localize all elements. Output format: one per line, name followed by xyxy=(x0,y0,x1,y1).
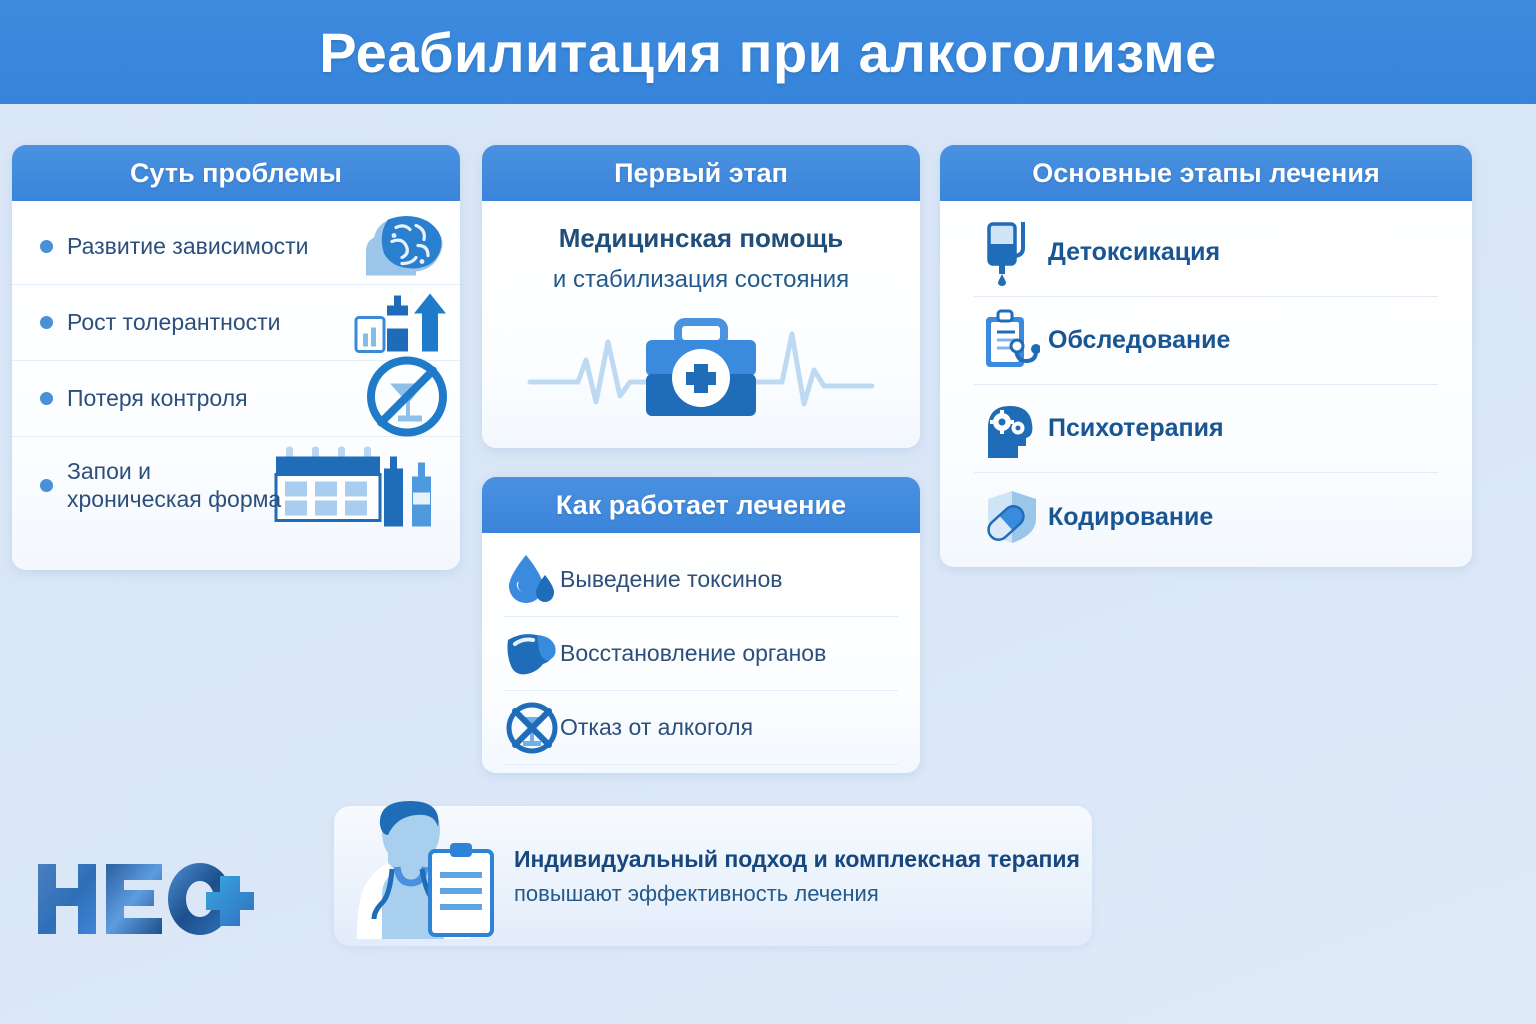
list-item[interactable]: Выведение токсинов xyxy=(504,543,898,617)
card-treatment-stages-header: Основные этапы лечения xyxy=(940,145,1472,201)
list-item[interactable]: Запои ихроническая форма xyxy=(12,437,460,533)
bottle-growth-arrow-icon xyxy=(354,285,450,360)
list-item-label: Рост толерантности xyxy=(67,308,281,336)
footer-text: Индивидуальный подход и комплексная тера… xyxy=(514,846,1080,907)
list-item-label: Восстановление органов xyxy=(560,640,826,667)
footer-line2: повышают эффективность лечения xyxy=(514,881,1080,907)
footer-banner: Индивидуальный подход и комплексная тера… xyxy=(334,806,1092,946)
list-item[interactable]: Рост толерантности xyxy=(12,285,460,361)
bullet-icon xyxy=(40,240,53,253)
card-how-it-works-header: Как работает лечение xyxy=(482,477,920,533)
first-stage-line2: и стабилизация состояния xyxy=(553,266,849,294)
card-treatment-stages: Основные этапы лечения Детоксикация xyxy=(940,145,1472,567)
card-first-stage-body: Медицинская помощь и стабилизация состоя… xyxy=(482,201,920,448)
card-problem-header: Суть проблемы xyxy=(12,145,460,201)
list-item[interactable]: Развитие зависимости xyxy=(12,209,460,285)
card-problem-title: Суть проблемы xyxy=(130,158,342,189)
list-item[interactable]: Восстановление органов xyxy=(504,617,898,691)
list-item-label: Отказ от алкоголя xyxy=(560,714,753,741)
calendar-bottles-icon xyxy=(274,437,450,534)
card-first-stage-title: Первый этап xyxy=(614,158,788,189)
first-aid-kit-heartbeat-icon xyxy=(526,308,876,429)
page-title: Реабилитация при алкоголизме xyxy=(319,20,1217,85)
first-stage-line1: Медицинская помощь xyxy=(559,223,844,254)
footer-line1: Индивидуальный подход и комплексная тера… xyxy=(514,846,1080,873)
doctor-clipboard-icon xyxy=(352,791,522,946)
pill-shield-icon xyxy=(974,487,1048,547)
card-how-it-works-body: Выведение токсинов Восстановление органо… xyxy=(482,533,920,773)
list-item-label: Развитие зависимости xyxy=(67,232,309,260)
card-first-stage-header: Первый этап xyxy=(482,145,920,201)
card-treatment-stages-title: Основные этапы лечения xyxy=(1032,158,1379,189)
list-item-label: Потеря контроля xyxy=(67,384,248,412)
card-problem: Суть проблемы Развитие зависимости Рост … xyxy=(12,145,460,570)
list-item-label: Психотерапия xyxy=(1048,414,1224,443)
list-item[interactable]: Обследование xyxy=(974,297,1438,385)
list-item-label: Детоксикация xyxy=(1048,238,1220,267)
page-header: Реабилитация при алкоголизме xyxy=(0,0,1536,104)
card-treatment-stages-body: Детоксикация Обследование xyxy=(940,201,1472,567)
list-item-label: Обследование xyxy=(1048,326,1230,355)
liver-icon xyxy=(504,630,560,678)
no-alcohol-icon xyxy=(364,353,450,444)
card-how-it-works-title: Как работает лечение xyxy=(556,490,846,521)
bullet-icon xyxy=(40,392,53,405)
clipboard-stethoscope-icon xyxy=(974,309,1048,373)
list-item-label: Выведение токсинов xyxy=(560,566,783,593)
no-drinking-icon xyxy=(504,700,560,756)
list-item-label: Запои ихроническая форма xyxy=(67,457,281,513)
water-drop-icon xyxy=(504,553,560,607)
list-item-label: Кодирование xyxy=(1048,503,1213,532)
list-item[interactable]: Психотерапия xyxy=(974,385,1438,473)
bullet-icon xyxy=(40,316,53,329)
bullet-icon xyxy=(40,479,53,492)
list-item[interactable]: Потеря контроля xyxy=(12,361,460,437)
head-gears-icon xyxy=(974,398,1048,460)
brand-logo[interactable] xyxy=(34,858,254,945)
list-item[interactable]: Кодирование xyxy=(974,473,1438,561)
list-item[interactable]: Детоксикация xyxy=(974,209,1438,297)
card-problem-body: Развитие зависимости Рост толерантности xyxy=(12,201,460,570)
iv-drip-icon xyxy=(974,218,1048,288)
brain-head-icon xyxy=(358,211,450,282)
card-first-stage: Первый этап Медицинская помощь и стабили… xyxy=(482,145,920,448)
list-item[interactable]: Отказ от алкоголя xyxy=(504,691,898,765)
card-how-it-works: Как работает лечение Выведение токсинов xyxy=(482,477,920,773)
